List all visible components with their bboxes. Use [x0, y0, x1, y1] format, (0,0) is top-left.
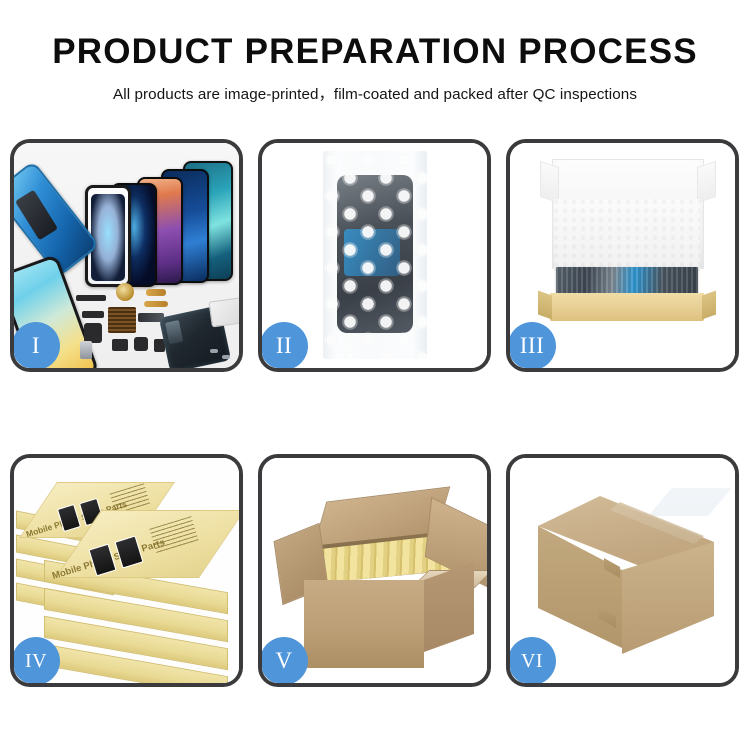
process-step-panel-1[interactable]: I — [10, 139, 243, 372]
part-screw-b — [222, 355, 230, 359]
bubble-highlights — [323, 151, 427, 359]
step-badge-6: VI — [510, 637, 556, 683]
bubble-wrap-bag — [323, 151, 427, 359]
part-connector-strip — [82, 311, 104, 318]
page-header: PRODUCT PREPARATION PROCESS All products… — [0, 0, 750, 104]
step-badge-3: III — [510, 322, 556, 368]
process-step-panel-6[interactable]: VI — [506, 454, 739, 687]
process-step-grid: I II III — [10, 139, 740, 687]
mailer-box-front-panel — [550, 293, 704, 321]
page-subtitle: All products are image-printed，film-coat… — [0, 82, 750, 104]
packed-product-strip — [556, 267, 698, 295]
part-flex-cable-a — [146, 289, 166, 296]
step-badge-2: II — [262, 322, 308, 368]
step-badge-1: I — [14, 322, 60, 368]
part-adhesive-sheet — [208, 296, 239, 327]
foam-insert — [554, 199, 700, 271]
part-camera-module — [84, 323, 102, 343]
step-3-image: III — [510, 143, 735, 368]
part-flex-cable-b — [144, 301, 168, 307]
process-step-panel-3[interactable]: III — [506, 139, 739, 372]
step-2-image: II — [262, 143, 487, 368]
page-title: PRODUCT PREPARATION PROCESS — [0, 34, 750, 71]
process-step-panel-4[interactable]: Mobile Phone Spare Parts Mobile Phone Sp… — [10, 454, 243, 687]
step-badge-5: V — [262, 637, 308, 683]
step-badge-4: IV — [14, 637, 60, 683]
process-step-panel-5[interactable]: V — [258, 454, 491, 687]
step-4-image: Mobile Phone Spare Parts Mobile Phone Sp… — [14, 458, 239, 683]
part-earpiece-mesh — [76, 295, 106, 301]
step-1-image: I — [14, 143, 239, 368]
part-taptic-engine — [134, 337, 148, 351]
part-ic-chip-array — [108, 307, 136, 333]
part-metal-bracket — [80, 341, 92, 359]
part-vibration-motor — [116, 283, 134, 301]
part-screw-a — [210, 349, 218, 353]
step-6-image: VI — [510, 458, 735, 683]
part-button-bracket — [112, 339, 128, 351]
step-5-image: V — [262, 458, 487, 683]
carton-front-face — [304, 580, 424, 668]
process-step-panel-2[interactable]: II — [258, 139, 491, 372]
